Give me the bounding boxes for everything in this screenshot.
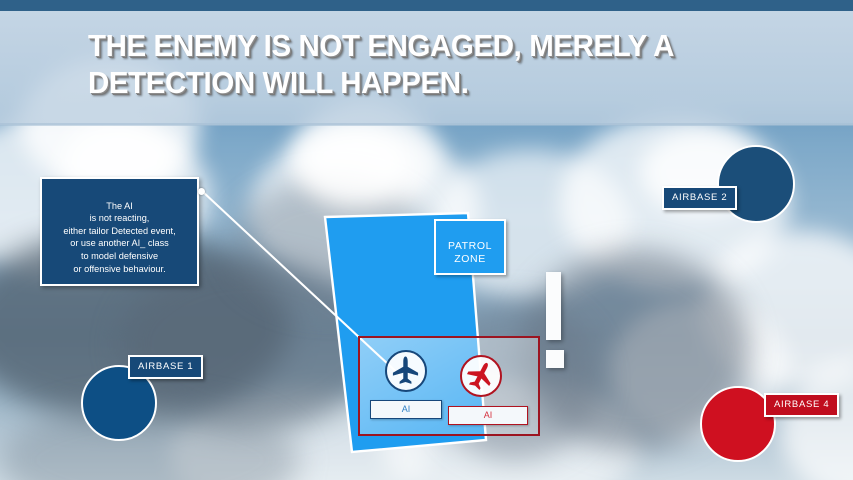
unit-detection-panel: AI AI: [358, 336, 540, 436]
airbase-label-4[interactable]: AIRBASE 4: [764, 393, 839, 417]
header-accent-strip: [0, 0, 853, 11]
unit-blue-ai-button[interactable]: AI: [370, 400, 442, 419]
fighter-jet-glyph: [387, 352, 424, 389]
airbase-label-1[interactable]: AIRBASE 1: [128, 355, 203, 379]
airbase-label-4-text: AIRBASE 4: [774, 399, 829, 410]
airbase-label-2[interactable]: AIRBASE 2: [662, 186, 737, 210]
callout-box: The AI is not reacting, either tailor De…: [40, 177, 199, 286]
unit-red-ai-button[interactable]: AI: [448, 406, 528, 425]
header-band-edge: [0, 123, 853, 126]
unit-blue-ai-label: AI: [402, 404, 411, 414]
slide-canvas: THE ENEMY IS NOT ENGAGED, MERELY A DETEC…: [0, 0, 853, 480]
leader-line-anchor-dot: [198, 188, 205, 195]
patrol-zone-label[interactable]: PATROL ZONE: [434, 219, 506, 275]
patrol-zone-label-text: PATROL ZONE: [448, 240, 492, 265]
blank-plate-tall[interactable]: [546, 272, 561, 340]
blank-plate-small[interactable]: [546, 350, 564, 368]
airbase-label-1-text: AIRBASE 1: [138, 361, 193, 372]
fighter-jet-icon[interactable]: [385, 350, 427, 392]
fighter-jet-icon[interactable]: [460, 355, 502, 397]
callout-text: The AI is not reacting, either tailor De…: [63, 201, 175, 274]
fighter-jet-glyph: [462, 357, 499, 394]
cloud-highlight-shape: [300, 125, 410, 205]
unit-red-ai-label: AI: [484, 410, 493, 420]
airbase-label-2-text: AIRBASE 2: [672, 192, 727, 203]
page-title: THE ENEMY IS NOT ENGAGED, MERELY A DETEC…: [88, 27, 753, 101]
